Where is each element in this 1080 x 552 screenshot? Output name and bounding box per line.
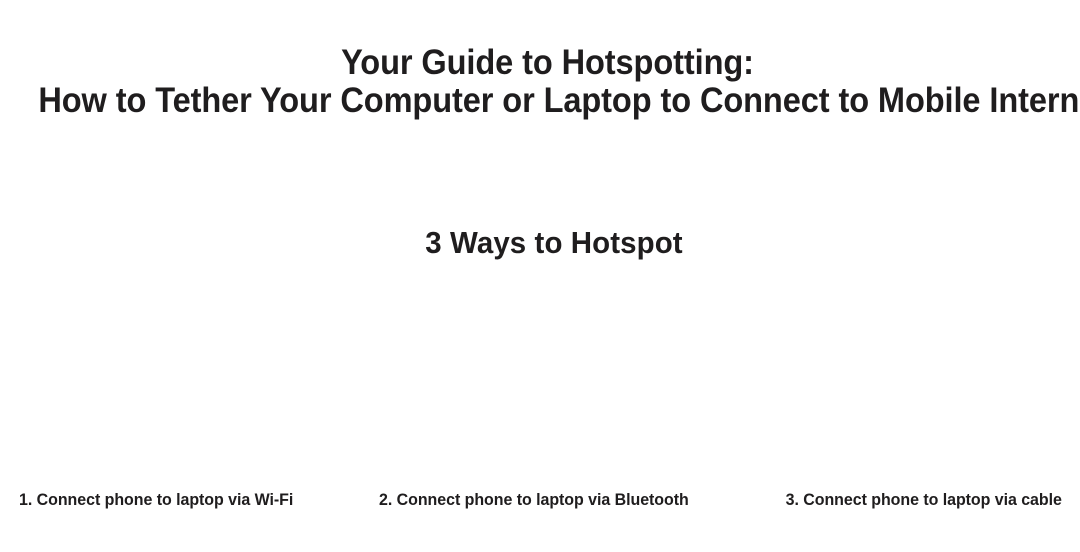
illustration-bluetooth	[375, 280, 705, 480]
page-title-line-2: How to Tether Your Computer or Laptop to…	[38, 82, 1056, 120]
illustration-cable	[750, 280, 1080, 480]
illustration-wifi	[0, 280, 330, 480]
caption-method-1: 1. Connect phone to laptop via Wi-Fi	[19, 489, 293, 511]
caption-method-2: 2. Connect phone to laptop via Bluetooth	[379, 489, 689, 511]
infographic-page: Your Guide to Hotspotting: How to Tether…	[0, 0, 1080, 552]
caption-row: 1. Connect phone to laptop via Wi-Fi 2. …	[0, 489, 1080, 513]
page-title-line-1: Your Guide to Hotspotting:	[38, 44, 1056, 82]
illustration-row	[0, 280, 1080, 480]
page-title: Your Guide to Hotspotting: How to Tether…	[0, 44, 1080, 120]
section-heading: 3 Ways to Hotspot	[28, 223, 1080, 263]
caption-method-3: 3. Connect phone to laptop via cable	[786, 489, 1062, 511]
